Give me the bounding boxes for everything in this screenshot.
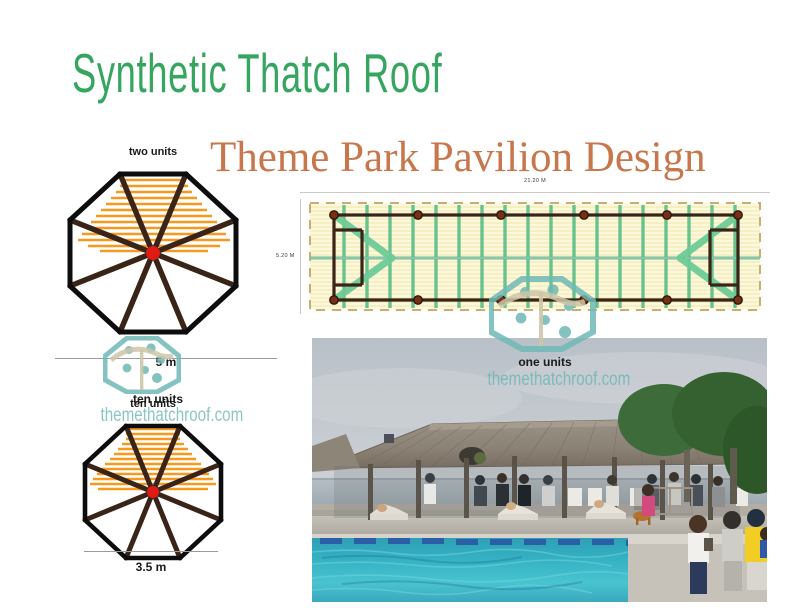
plan-dimension-label-width: 5.20 M xyxy=(276,253,295,259)
octagon-svg-two-units xyxy=(58,162,248,342)
octagon-center-node xyxy=(147,486,159,498)
plan-dimension-label-length: 21.20 M xyxy=(300,178,770,184)
octagon-label-ten-units: ten units xyxy=(58,398,248,410)
dimension-label-3-5m: 3.5 m xyxy=(84,560,218,574)
page-title: Synthetic Thatch Roof xyxy=(72,44,442,102)
beachside-thatch-pavilion-photo xyxy=(312,338,767,602)
octagon-label-two-units: two units xyxy=(58,146,248,158)
pavilion-roof-plan xyxy=(304,199,766,314)
octagon-diagram-two-units: two units xyxy=(58,146,248,341)
octagon-center-node xyxy=(146,246,160,260)
dimension-line-3-5m xyxy=(84,551,218,552)
octagon-svg-ten-units xyxy=(58,418,248,566)
plan-dimension-line-left xyxy=(300,199,301,314)
page-subtitle: Theme Park Pavilion Design xyxy=(210,134,706,182)
plan-dimension-line-top xyxy=(300,192,770,193)
octagon-diagram-ten-units: ten units xyxy=(58,398,248,568)
slide-canvas: Synthetic Thatch Roof Theme Park Pavilio… xyxy=(0,0,800,614)
dimension-label-5m: 5 m xyxy=(55,355,277,369)
